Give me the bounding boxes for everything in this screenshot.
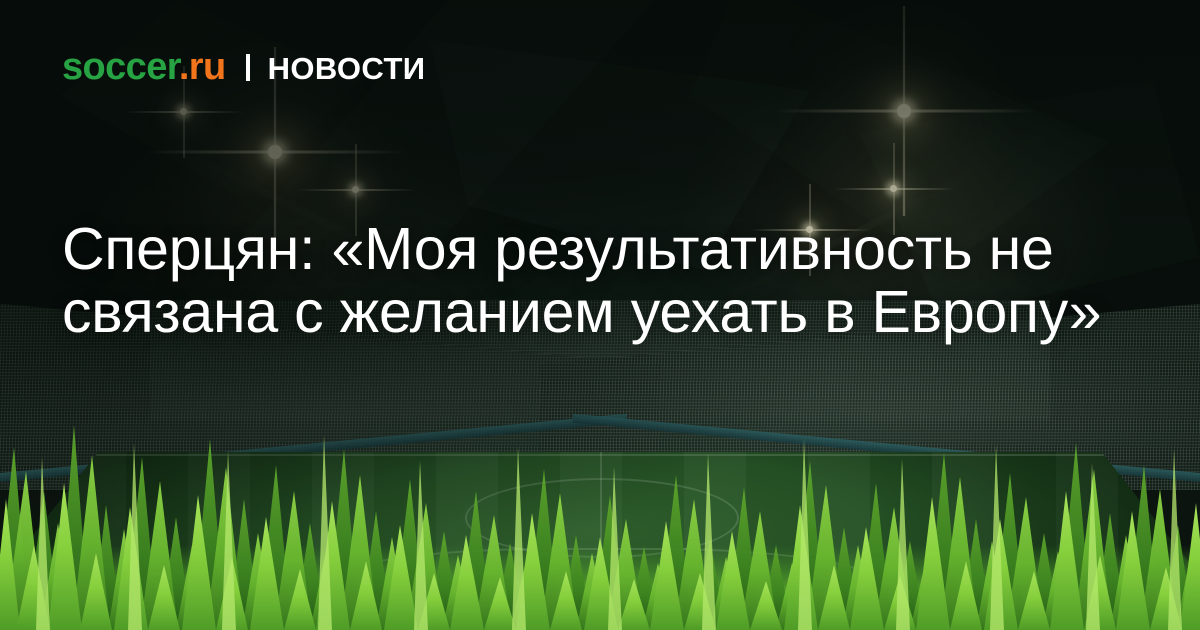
foreground-grass bbox=[0, 395, 1200, 630]
header-divider bbox=[246, 54, 250, 81]
logo-text-ru: .ru bbox=[179, 46, 226, 88]
news-share-card: soccer.ru НОВОСТИ Сперцян: «Моя результа… bbox=[0, 0, 1200, 630]
site-header: soccer.ru НОВОСТИ bbox=[62, 48, 425, 86]
soccer-ru-logo[interactable]: soccer.ru bbox=[62, 48, 226, 86]
logo-text-soccer: soccer bbox=[62, 46, 179, 88]
section-label-news: НОВОСТИ bbox=[268, 53, 426, 84]
page-title: Сперцян: «Моя результативность не связан… bbox=[62, 218, 1122, 344]
